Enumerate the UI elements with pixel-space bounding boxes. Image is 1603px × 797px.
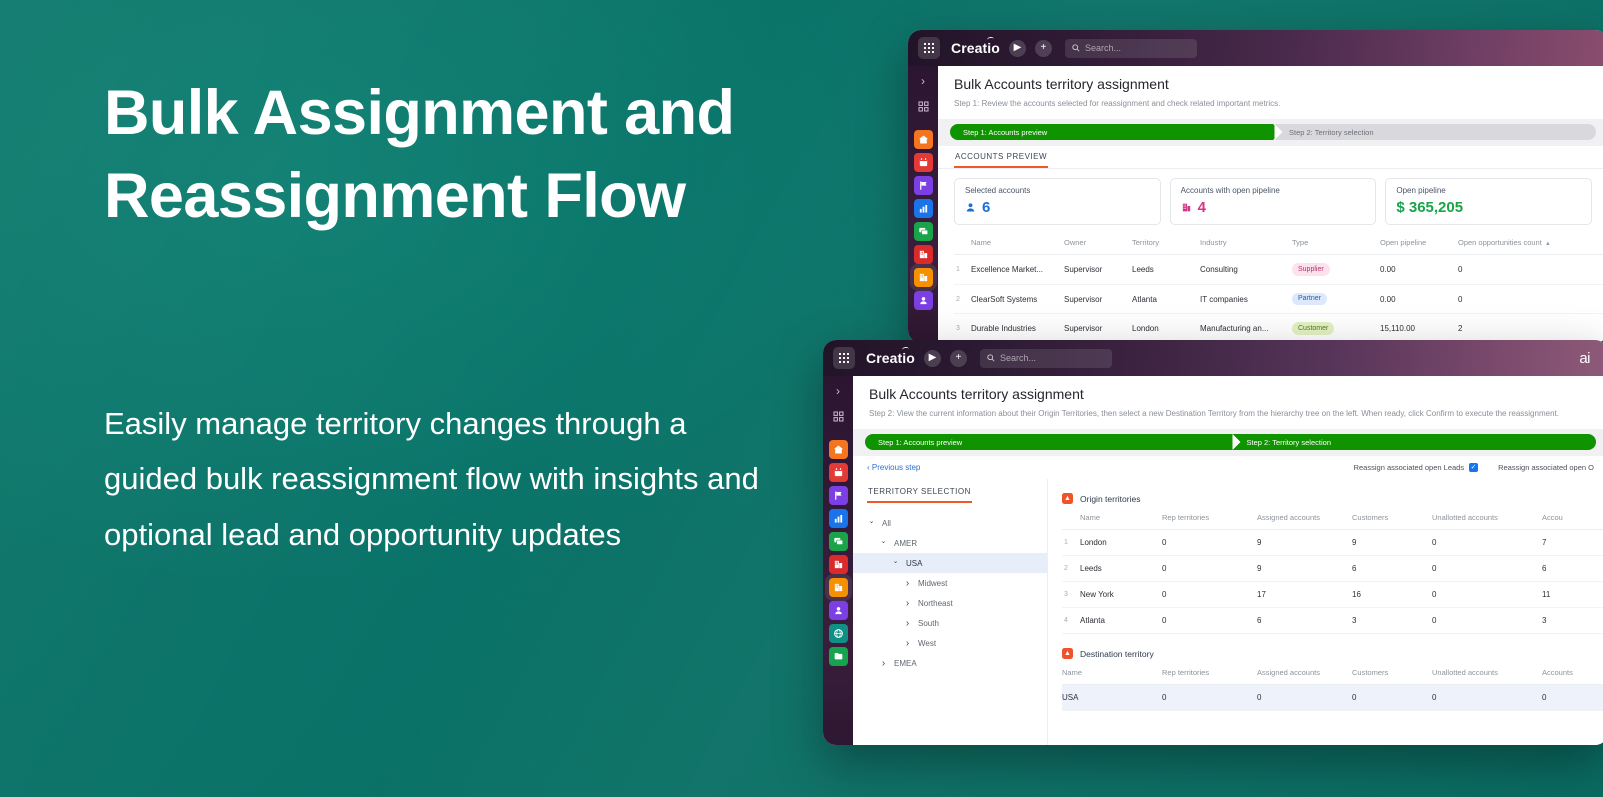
- cell-type: Partner: [1292, 284, 1380, 313]
- cell-pipeline: 15,110.00: [1380, 314, 1458, 343]
- sidebar-item-home[interactable]: [829, 440, 848, 459]
- add-button[interactable]: +: [950, 350, 967, 367]
- cell-customers: 3: [1352, 608, 1432, 634]
- cell-owner: Supervisor: [1064, 314, 1132, 343]
- cell-assigned: 9: [1257, 530, 1352, 556]
- reassign-options: Reassign associated open Leads ✓ Reassig…: [1354, 463, 1594, 472]
- run-process-button[interactable]: ▶: [924, 350, 941, 367]
- chevron-right-icon[interactable]: [879, 658, 888, 669]
- cell-rep: 0: [1162, 685, 1257, 711]
- table-header-row: Name Rep territories Assigned accounts C…: [1062, 506, 1603, 530]
- col-rep-territories[interactable]: Rep territories: [1162, 506, 1257, 530]
- territory-tree: All AMER USA Midwest: [853, 503, 1047, 673]
- sidebar-expand-icon[interactable]: ›: [836, 381, 840, 401]
- run-process-button[interactable]: ▶: [1009, 40, 1026, 57]
- tree-node-amer[interactable]: AMER: [853, 533, 1047, 553]
- sidebar-item-flag[interactable]: [829, 486, 848, 505]
- cell-accounts: 0: [1542, 685, 1603, 711]
- sidebar-item-chat[interactable]: [829, 532, 848, 551]
- person-icon: [965, 202, 976, 213]
- cell-unallotted: 0: [1432, 685, 1542, 711]
- sidebar-item-accounts-red[interactable]: [829, 555, 848, 574]
- cell-name: London: [1080, 530, 1162, 556]
- cell-assigned: 6: [1257, 608, 1352, 634]
- cell-pipeline: 0.00: [1380, 284, 1458, 313]
- tree-node-emea[interactable]: EMEA: [853, 653, 1047, 673]
- chevron-down-icon[interactable]: [891, 559, 900, 567]
- status-badge: Supplier: [1292, 263, 1330, 275]
- app-window-step2: Creatio ▶ + Search... ai ›: [823, 340, 1603, 745]
- step-nav-row: ‹ Previous step Reassign associated open…: [853, 456, 1603, 479]
- col-accounts[interactable]: Accou: [1542, 506, 1603, 530]
- table-row[interactable]: 3 Durable Industries Supervisor London M…: [954, 314, 1603, 343]
- checkbox-label: Reassign associated open O: [1498, 463, 1594, 472]
- table-row[interactable]: 3 New York 0 17 16 0 11: [1062, 582, 1603, 608]
- tree-node-label: South: [918, 619, 939, 628]
- previous-step-link[interactable]: ‹ Previous step: [867, 463, 920, 472]
- collapse-icon[interactable]: ▲: [1062, 648, 1073, 659]
- cell-unallotted: 0: [1432, 556, 1542, 582]
- table-row[interactable]: 1 Excellence Market... Supervisor Leeds …: [954, 255, 1603, 284]
- accounts-table: Name Owner Territory Industry Type Open …: [954, 231, 1603, 343]
- table-row[interactable]: USA 0 0 0 0 0: [1062, 685, 1603, 711]
- col-assigned-accounts[interactable]: Assigned accounts: [1257, 661, 1352, 685]
- sidebar-item-globe[interactable]: [829, 624, 848, 643]
- step-territory-selection[interactable]: Step 2: Territory selection: [1273, 124, 1596, 140]
- col-unallotted-accounts[interactable]: Unallotted accounts: [1432, 661, 1542, 685]
- step-separator-icon: [1232, 434, 1240, 450]
- tree-node-all[interactable]: All: [853, 513, 1047, 533]
- section-tabs: ACCOUNTS PREVIEW: [938, 146, 1603, 169]
- metric-value: $ 365,205: [1396, 199, 1463, 216]
- sidebar-item-flag[interactable]: [914, 176, 933, 195]
- checkbox-label: Reassign associated open Leads: [1354, 463, 1465, 472]
- cell-rep: 0: [1162, 608, 1257, 634]
- sidebar-item-calendar[interactable]: [829, 463, 848, 482]
- tree-node-label: Northeast: [918, 599, 953, 608]
- cell-industry: Consulting: [1200, 255, 1292, 284]
- chevron-down-icon[interactable]: [867, 519, 876, 527]
- cell-accounts: 6: [1542, 556, 1603, 582]
- table-row[interactable]: 4 Atlanta 0 6 3 0 3: [1062, 608, 1603, 634]
- tree-node-west[interactable]: West: [853, 633, 1047, 653]
- cell-accounts: 7: [1542, 530, 1603, 556]
- checkbox-reassign-opportunities[interactable]: Reassign associated open O: [1498, 463, 1594, 472]
- col-name[interactable]: Name: [1080, 506, 1162, 530]
- search-placeholder: Search...: [1085, 43, 1121, 53]
- sidebar-item-calendar[interactable]: [914, 153, 933, 172]
- step-separator-icon: [1275, 124, 1283, 140]
- section-title: Destination territory: [1080, 649, 1154, 659]
- status-badge: Partner: [1292, 293, 1327, 305]
- col-assigned-accounts[interactable]: Assigned accounts: [1257, 506, 1352, 530]
- cell-pipeline: 0.00: [1380, 255, 1458, 284]
- add-button[interactable]: +: [1035, 40, 1052, 57]
- cell-industry: Manufacturing an...: [1200, 314, 1292, 343]
- sidebar-item-accounts[interactable]: [829, 578, 848, 597]
- cell-name: Excellence Market...: [971, 255, 1064, 284]
- step-label: Step 2: Territory selection: [1231, 438, 1332, 447]
- step-label: Step 1: Accounts preview: [950, 128, 1047, 137]
- chevron-right-icon[interactable]: [903, 598, 912, 609]
- step-label: Step 2: Territory selection: [1273, 128, 1374, 137]
- tree-node-northeast[interactable]: Northeast: [853, 593, 1047, 613]
- cell-territory: London: [1132, 314, 1200, 343]
- col-customers[interactable]: Customers: [1352, 661, 1432, 685]
- col-unallotted-accounts[interactable]: Unallotted accounts: [1432, 506, 1542, 530]
- status-badge: Customer: [1292, 322, 1334, 334]
- tab-territory-selection[interactable]: TERRITORY SELECTION: [867, 481, 972, 503]
- cell-territory: Leeds: [1132, 255, 1200, 284]
- cell-customers: 0: [1352, 685, 1432, 711]
- table-header-row: Name Owner Territory Industry Type Open …: [954, 231, 1603, 255]
- tree-node-usa[interactable]: USA: [853, 553, 1047, 573]
- sidebar-item-accounts[interactable]: [914, 268, 933, 287]
- tree-node-label: USA: [906, 559, 922, 568]
- dashboard-grid-icon[interactable]: [833, 405, 844, 427]
- chevron-down-icon[interactable]: [879, 539, 888, 547]
- col-name[interactable]: Name: [971, 231, 1064, 255]
- destination-section-header[interactable]: ▲ Destination territory: [1062, 648, 1603, 659]
- cell-name: Durable Industries: [971, 314, 1064, 343]
- cell-industry: IT companies: [1200, 284, 1292, 313]
- cell-customers: 16: [1352, 582, 1432, 608]
- page-subtitle: Step 2: View the current information abo…: [869, 408, 1592, 420]
- sidebar-expand-icon[interactable]: ›: [921, 71, 925, 91]
- building-icon: [1181, 202, 1192, 213]
- tree-node-label: West: [918, 639, 936, 648]
- cell-opps: 0: [1458, 255, 1603, 284]
- page-header: Bulk Accounts territory assignment Step …: [853, 376, 1603, 429]
- cell-unallotted: 0: [1432, 608, 1542, 634]
- cell-customers: 9: [1352, 530, 1432, 556]
- metric-label: Accounts with open pipeline: [1181, 186, 1366, 195]
- cell-accounts: 11: [1542, 582, 1603, 608]
- cell-name: Leeds: [1080, 556, 1162, 582]
- cell-rep: 0: [1162, 556, 1257, 582]
- step-label: Step 1: Accounts preview: [865, 438, 962, 447]
- page-title: Bulk Accounts territory assignment: [954, 76, 1592, 92]
- cell-assigned: 0: [1257, 685, 1352, 711]
- sidebar-item-analytics[interactable]: [829, 509, 848, 528]
- sidebar-item-analytics[interactable]: [914, 199, 933, 218]
- cell-rep: 0: [1162, 582, 1257, 608]
- metric-value-wrap: 4: [1181, 199, 1366, 216]
- chevron-right-icon[interactable]: [903, 578, 912, 589]
- page-subtitle: Step 1: Review the accounts selected for…: [954, 98, 1592, 110]
- tree-node-label: All: [882, 519, 891, 528]
- sidebar-item-contacts[interactable]: [914, 291, 933, 310]
- col-open-opps[interactable]: Open opportunities count▲: [1458, 231, 1603, 255]
- search-input[interactable]: Search...: [1065, 39, 1197, 58]
- collapse-icon[interactable]: ▲: [1062, 493, 1073, 504]
- sidebar-item-chat[interactable]: [914, 222, 933, 241]
- col-territory[interactable]: Territory: [1132, 231, 1200, 255]
- grid-apps-icon[interactable]: [918, 37, 940, 59]
- metric-card-selected-accounts: Selected accounts 6: [954, 178, 1161, 225]
- metric-value-wrap: 6: [965, 199, 1150, 216]
- cell-accounts: 3: [1542, 608, 1603, 634]
- col-accounts[interactable]: Accounts: [1542, 661, 1603, 685]
- main-content-step2: Bulk Accounts territory assignment Step …: [853, 376, 1603, 745]
- grid-apps-icon[interactable]: [833, 347, 855, 369]
- cell-name: Atlanta: [1080, 608, 1162, 634]
- step-territory-selection[interactable]: Step 2: Territory selection: [1231, 434, 1597, 450]
- brand-logo[interactable]: Creatio: [866, 350, 915, 366]
- section-title: Origin territories: [1080, 494, 1140, 504]
- cell-owner: Supervisor: [1064, 284, 1132, 313]
- metric-label: Open pipeline: [1396, 186, 1581, 195]
- tree-node-label: EMEA: [894, 659, 917, 668]
- metric-label: Selected accounts: [965, 186, 1150, 195]
- cell-unallotted: 0: [1432, 530, 1542, 556]
- col-open-pipeline[interactable]: Open pipeline: [1380, 231, 1458, 255]
- tree-node-south[interactable]: South: [853, 613, 1047, 633]
- step-indicator: Step 1: Accounts preview Step 2: Territo…: [938, 119, 1603, 146]
- step-accounts-preview[interactable]: Step 1: Accounts preview: [950, 124, 1273, 140]
- territory-split-layout: TERRITORY SELECTION All AMER: [853, 479, 1603, 745]
- tree-tabs: TERRITORY SELECTION: [853, 479, 1047, 503]
- sidebar-rail-top: ›: [908, 66, 938, 343]
- tree-node-midwest[interactable]: Midwest: [853, 573, 1047, 593]
- cell-assigned: 9: [1257, 556, 1352, 582]
- metric-value-wrap: $ 365,205: [1396, 199, 1581, 216]
- step-accounts-preview[interactable]: Step 1: Accounts preview: [865, 434, 1231, 450]
- table-row[interactable]: 2 Leeds 0 9 6 0 6: [1062, 556, 1603, 582]
- col-type[interactable]: Type: [1292, 231, 1380, 255]
- cell-name: ClearSoft Systems: [971, 284, 1064, 313]
- main-content-step1: Bulk Accounts territory assignment Step …: [938, 66, 1603, 343]
- marketing-copy: Bulk Assignment and Reassignment Flow: [104, 72, 804, 238]
- tab-accounts-preview[interactable]: ACCOUNTS PREVIEW: [954, 146, 1048, 168]
- cell-name: New York: [1080, 582, 1162, 608]
- app-topbar: Creatio ▶ + Search...: [908, 30, 1603, 66]
- marketing-body-text: Easily manage territory changes through …: [104, 396, 764, 562]
- table-header-row: Name Rep territories Assigned accounts C…: [1062, 661, 1603, 685]
- col-industry[interactable]: Industry: [1200, 231, 1292, 255]
- territory-detail-pane: ▲ Origin territories Name Rep territorie…: [1048, 479, 1603, 745]
- search-input[interactable]: Search...: [980, 349, 1112, 368]
- tree-node-label: Midwest: [918, 579, 947, 588]
- territory-tree-pane: TERRITORY SELECTION All AMER: [853, 479, 1048, 745]
- cell-territory: Atlanta: [1132, 284, 1200, 313]
- col-owner[interactable]: Owner: [1064, 231, 1132, 255]
- cell-name: USA: [1062, 685, 1162, 711]
- sidebar-item-folder[interactable]: [829, 647, 848, 666]
- tree-node-label: AMER: [894, 539, 917, 548]
- table-row[interactable]: 2 ClearSoft Systems Supervisor Atlanta I…: [954, 284, 1603, 313]
- checkbox-reassign-leads[interactable]: Reassign associated open Leads ✓: [1354, 463, 1479, 472]
- metric-card-open-pipeline: Open pipeline $ 365,205: [1385, 178, 1592, 225]
- accounts-table-wrap: Name Owner Territory Industry Type Open …: [938, 231, 1603, 343]
- search-icon: [1072, 44, 1080, 52]
- sidebar-item-contacts[interactable]: [829, 601, 848, 620]
- col-name[interactable]: Name: [1062, 661, 1162, 685]
- metric-cards: Selected accounts 6 Accounts with open p…: [938, 169, 1603, 231]
- page-headline: Bulk Assignment and Reassignment Flow: [104, 72, 804, 238]
- sidebar-item-accounts-red[interactable]: [914, 245, 933, 264]
- col-customers[interactable]: Customers: [1352, 506, 1432, 530]
- ai-logo[interactable]: ai: [1579, 350, 1598, 367]
- page-header: Bulk Accounts territory assignment Step …: [938, 66, 1603, 119]
- app-topbar-step2: Creatio ▶ + Search... ai: [823, 340, 1603, 376]
- cell-rep: 0: [1162, 530, 1257, 556]
- cell-opps: 2: [1458, 314, 1603, 343]
- brand-logo[interactable]: Creatio: [951, 40, 1000, 56]
- cell-customers: 6: [1352, 556, 1432, 582]
- dashboard-grid-icon[interactable]: [918, 95, 929, 117]
- metric-card-open-pipeline-accounts: Accounts with open pipeline 4: [1170, 178, 1377, 225]
- destination-territory-table: Name Rep territories Assigned accounts C…: [1062, 661, 1603, 711]
- cell-type: Customer: [1292, 314, 1380, 343]
- metric-value: 6: [982, 199, 990, 216]
- table-row[interactable]: 1 London 0 9 9 0 7: [1062, 530, 1603, 556]
- cell-unallotted: 0: [1432, 582, 1542, 608]
- step-indicator: Step 1: Accounts preview Step 2: Territo…: [853, 429, 1603, 456]
- chevron-right-icon[interactable]: [903, 638, 912, 649]
- search-placeholder: Search...: [1000, 353, 1036, 363]
- origin-territories-table: Name Rep territories Assigned accounts C…: [1062, 506, 1603, 634]
- checkbox-checked-icon[interactable]: ✓: [1469, 463, 1478, 472]
- cell-type: Supplier: [1292, 255, 1380, 284]
- sidebar-rail-bottom: ›: [823, 376, 853, 745]
- app-window-step1: Creatio ▶ + Search... › Bulk Accounts t: [908, 30, 1603, 343]
- metric-value: 4: [1198, 199, 1206, 216]
- sidebar-item-home[interactable]: [914, 130, 933, 149]
- origin-section-header[interactable]: ▲ Origin territories: [1062, 493, 1603, 504]
- sort-asc-icon: ▲: [1545, 241, 1551, 247]
- col-rep-territories[interactable]: Rep territories: [1162, 661, 1257, 685]
- cell-owner: Supervisor: [1064, 255, 1132, 284]
- cell-assigned: 17: [1257, 582, 1352, 608]
- search-icon: [987, 354, 995, 362]
- cell-opps: 0: [1458, 284, 1603, 313]
- page-title: Bulk Accounts territory assignment: [869, 386, 1592, 402]
- chevron-right-icon[interactable]: [903, 618, 912, 629]
